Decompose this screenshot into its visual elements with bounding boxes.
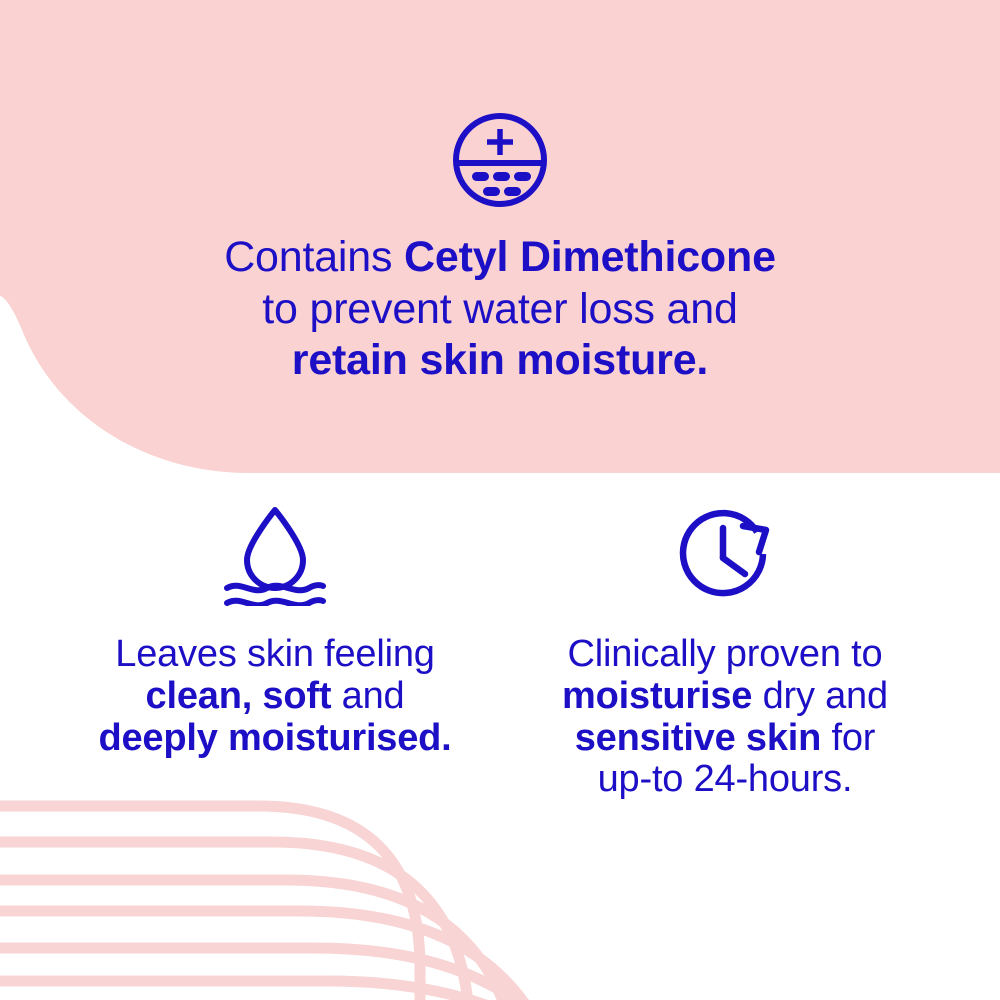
infographic-poster: Contains Cetyl Dimethicone to prevent wa… xyxy=(0,0,1000,1000)
skin-layers-plus-icon xyxy=(450,110,550,210)
headline-line-3-bold: retain skin moisture. xyxy=(292,336,708,384)
feature-1-line-2: clean, soft and xyxy=(98,676,451,718)
feature-2-line-2-suffix: dry and xyxy=(752,675,888,717)
feature-2-line-1: Clinically proven to xyxy=(562,634,888,676)
headline-line-1-bold: Cetyl Dimethicone xyxy=(404,233,776,281)
feature-2-line-3: sensitive skin for xyxy=(562,718,888,760)
feature-moisturised: Leaves skin feeling clean, soft and deep… xyxy=(50,480,500,759)
feature-2-line-3-suffix: for xyxy=(821,717,875,759)
clock-arrow-icon xyxy=(669,502,781,606)
feature-24-hour: Clinically proven to moisturise dry and … xyxy=(500,480,950,801)
feature-1-line-3: deeply moisturised. xyxy=(98,718,451,760)
features-row: Leaves skin feeling clean, soft and deep… xyxy=(0,480,1000,1000)
feature-1-line-1: Leaves skin feeling xyxy=(98,634,451,676)
feature-1-line-3-bold: deeply moisturised. xyxy=(98,717,451,759)
feature-1-line-2-bold: clean, soft xyxy=(146,675,332,717)
headline-line-1-prefix: Contains xyxy=(224,233,404,281)
feature-2-caption: Clinically proven to moisturise dry and … xyxy=(562,634,888,801)
feature-2-line-2-bold: moisturise xyxy=(562,675,752,717)
feature-2-line-3-bold: sensitive skin xyxy=(575,717,821,759)
water-droplet-waves-icon xyxy=(219,502,331,606)
feature-2-line-2: moisturise dry and xyxy=(562,676,888,718)
feature-1-caption: Leaves skin feeling clean, soft and deep… xyxy=(98,634,451,759)
top-panel-content: Contains Cetyl Dimethicone to prevent wa… xyxy=(0,0,1000,480)
headline-line-1: Contains Cetyl Dimethicone xyxy=(224,232,776,284)
headline: Contains Cetyl Dimethicone to prevent wa… xyxy=(224,232,776,387)
feature-1-line-2-suffix: and xyxy=(331,675,404,717)
feature-2-line-4: up-to 24-hours. xyxy=(562,759,888,801)
headline-line-2: to prevent water loss and xyxy=(224,284,776,336)
headline-line-3: retain skin moisture. xyxy=(224,335,776,387)
